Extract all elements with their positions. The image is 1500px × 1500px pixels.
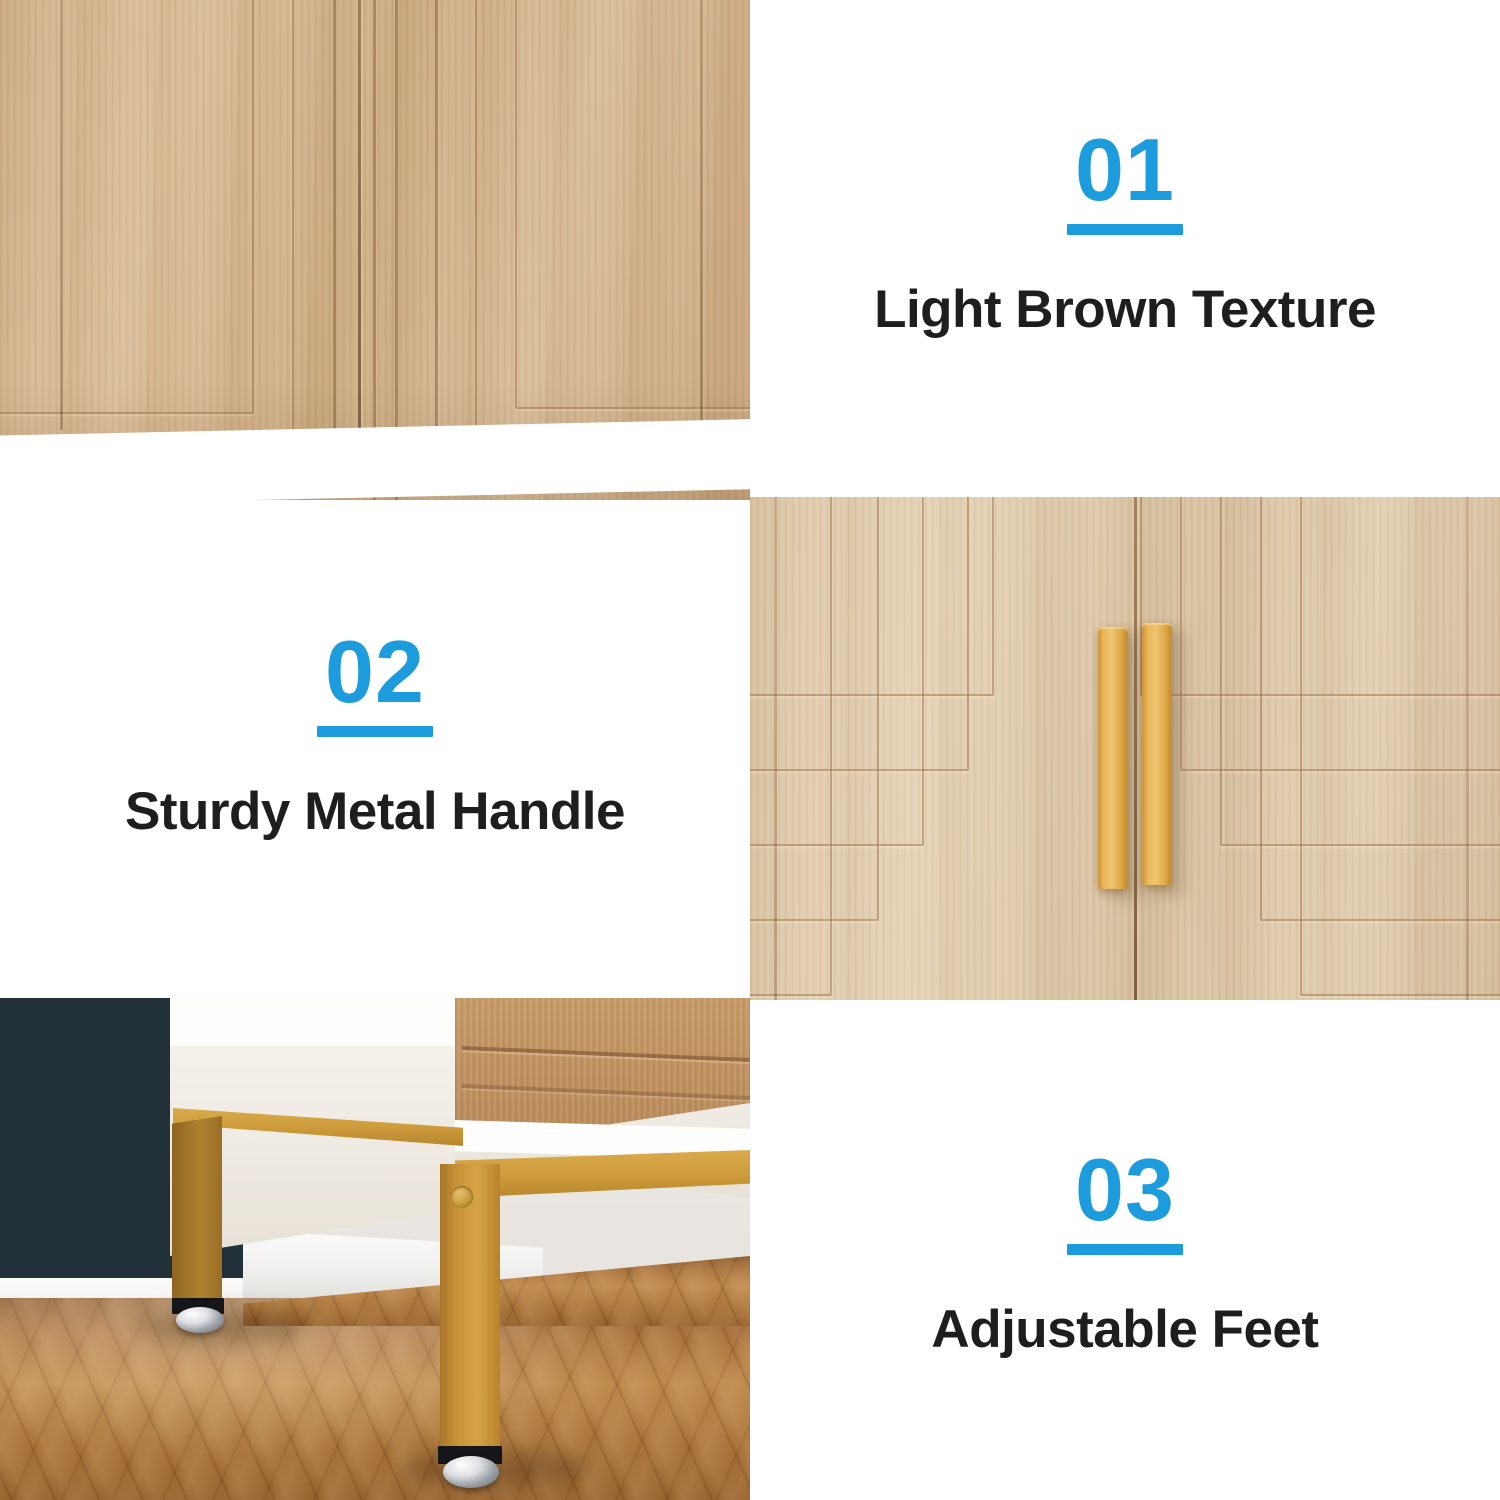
feature-03-title: Adjustable Feet (931, 1299, 1318, 1360)
leg-back-shadow (140, 1310, 310, 1344)
product-feature-infographic: 01 Light Brown Texture 02 Sturdy Metal H… (0, 0, 1500, 1500)
handle-door-groove-left-5 (750, 497, 832, 996)
photo-light-brown-texture (0, 0, 750, 500)
cabinet-leg-back (172, 1116, 222, 1306)
handle-panel-line-right (1466, 497, 1469, 1000)
metal-handle-image (750, 497, 1500, 1000)
adjustable-feet-image (0, 998, 750, 1500)
feature-block-03: 03 Adjustable Feet (750, 1000, 1500, 1500)
herringbone-floor (0, 1298, 750, 1500)
feature-02-number-group: 02 (317, 630, 433, 737)
floor-sheen (0, 1298, 750, 1500)
panel-line-2 (700, 0, 703, 445)
photo-sturdy-metal-handle (750, 497, 1500, 1000)
handle-door-groove-right-5 (1300, 497, 1500, 996)
door-groove-core-left (0, 0, 254, 414)
metal-handle-left (1098, 627, 1128, 889)
photo-adjustable-feet (0, 998, 750, 1500)
feature-01-underline (1067, 224, 1183, 235)
feature-02-number: 02 (325, 630, 425, 714)
feature-03-underline (1067, 1244, 1183, 1255)
adjustable-foot-back (176, 1307, 224, 1333)
metal-handle-right (1142, 623, 1172, 885)
feature-01-title: Light Brown Texture (874, 279, 1376, 340)
feature-03-number-group: 03 (1067, 1148, 1183, 1255)
panel-line-1 (60, 0, 63, 430)
feature-block-02: 02 Sturdy Metal Handle (0, 500, 750, 998)
feature-01-number-group: 01 (1067, 128, 1183, 235)
feature-01-number: 01 (1075, 128, 1175, 212)
wood-texture-image (0, 0, 750, 500)
feature-block-01: 01 Light Brown Texture (750, 0, 1500, 500)
feature-03-number: 03 (1075, 1148, 1175, 1232)
feature-02-underline (317, 726, 433, 737)
cabinet-side-top-edge (170, 998, 460, 1046)
leg-mounting-screw (451, 1186, 473, 1208)
feature-02-title: Sturdy Metal Handle (125, 781, 625, 842)
cabinet-leg-front (440, 1164, 500, 1454)
handle-panel-line-left (774, 497, 777, 1000)
door-groove-core-right (515, 0, 750, 409)
adjustable-foot-front (443, 1456, 499, 1488)
